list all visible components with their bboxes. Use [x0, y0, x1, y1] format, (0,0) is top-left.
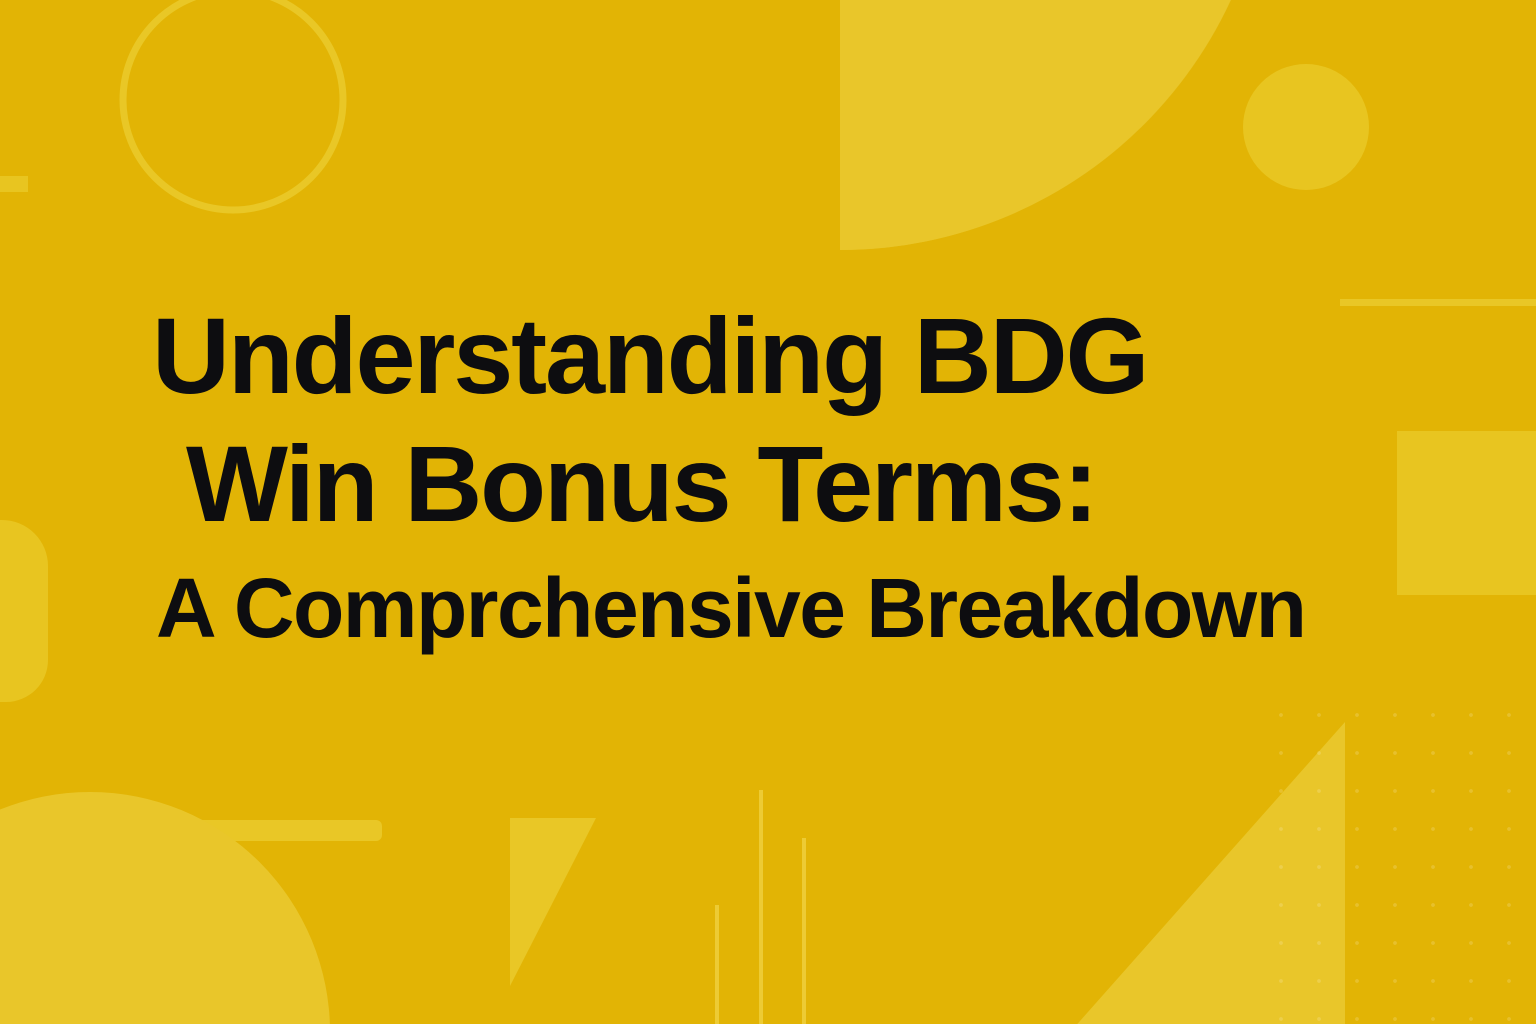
rect-right-middle-icon — [1397, 431, 1536, 595]
circle-bottom-left-icon — [0, 792, 330, 1024]
banner-canvas: Understanding BDG Win Bonus Terms: A Com… — [0, 0, 1536, 1024]
rounded-shape-left-middle-icon — [0, 520, 48, 702]
dot-grid-bottom-right-icon — [1256, 690, 1536, 1024]
line-right-upper-icon — [1340, 299, 1536, 306]
quarter-circle-top-center-body-icon — [840, 0, 882, 250]
headline-line-2: Win Bonus Terms: — [186, 420, 1332, 548]
vertical-line-3-icon — [802, 838, 806, 1024]
wedge-bottom-center-icon — [510, 818, 596, 986]
circle-top-right-icon — [1243, 64, 1369, 190]
bar-top-left-edge-icon — [0, 176, 28, 192]
headline-line-1: Understanding BDG — [152, 292, 1332, 420]
quarter-circle-top-center-icon — [840, 0, 1270, 250]
vertical-line-1-icon — [715, 905, 719, 1024]
headline-line-3: A Comprchensive Breakdown — [156, 556, 1332, 660]
vertical-line-2-icon — [759, 790, 763, 1024]
headline-block: Understanding BDG Win Bonus Terms: A Com… — [152, 292, 1332, 660]
circle-outline-top-left-icon — [123, 0, 343, 210]
bar-bottom-left-icon — [20, 820, 382, 841]
quarter-circle-shape-icon — [840, 0, 1270, 250]
